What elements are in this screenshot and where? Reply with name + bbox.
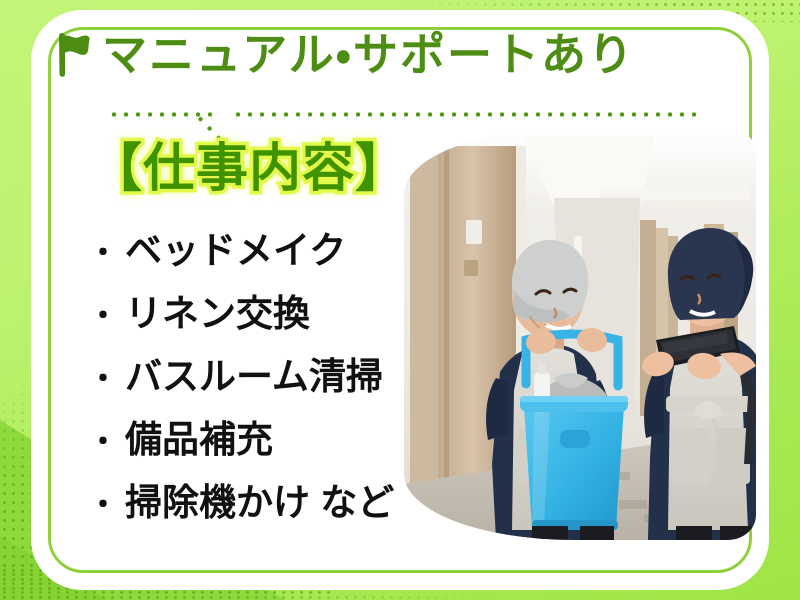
header-title: マニュアル・サポートあり [102, 32, 635, 77]
bullet-icon: ・ [88, 365, 118, 395]
job-duty-list: ・ ベッドメイク ・ リネン交換 ・ バスルーム清掃 ・ 備品補充 ・ 掃除機か… [88, 232, 448, 547]
bullet-icon: ・ [88, 239, 118, 269]
list-item: ・ バスルーム清掃 [88, 358, 448, 395]
dotted-rule-right [232, 112, 700, 117]
section-heading-job-description: 【仕事内容】 [90, 140, 408, 200]
list-item-label: リネン交換 [125, 295, 310, 332]
list-item-label: バスルーム清掃 [125, 358, 383, 395]
bullet-icon: ・ [88, 428, 118, 458]
job-ad-banner: マニュアル・サポートあり 【仕事内容】 ・ ベッドメイク ・ リネン交換 ・ バ… [0, 0, 800, 600]
list-item: ・ 掃除機かけ など [88, 484, 448, 521]
staff-photo [404, 128, 756, 540]
list-item-label: ベッドメイク [125, 232, 346, 269]
bullet-icon: ・ [88, 302, 118, 332]
list-item-label: 掃除機かけ など [125, 484, 394, 521]
list-item: ・ ベッドメイク [88, 232, 448, 269]
bullet-icon: ・ [88, 491, 118, 521]
flag-icon [52, 33, 92, 77]
list-item: ・ リネン交換 [88, 295, 448, 332]
list-item-label: 備品補充 [125, 421, 273, 458]
banner-header: マニュアル・サポートあり [52, 32, 635, 77]
list-item: ・ 備品補充 [88, 421, 448, 458]
